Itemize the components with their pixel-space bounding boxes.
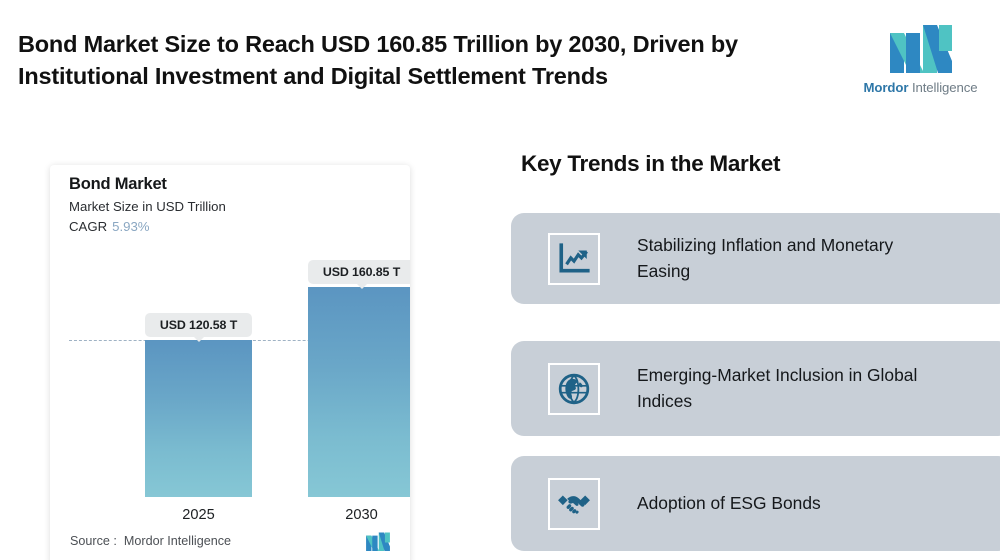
chart-title: Bond Market [69, 175, 167, 194]
mordor-intelligence-logo-icon [890, 21, 952, 73]
brand-name-light: Intelligence [912, 80, 978, 95]
brand-wordmark: Mordor Intelligence [864, 80, 978, 95]
page-title: Bond Market Size to Reach USD 160.85 Tri… [18, 28, 838, 93]
trend-card-emerging-market-inclusion[interactable]: Emerging-Market Inclusion in Global Indi… [511, 341, 1000, 436]
bar-value-label-2030: USD 160.85 T [308, 260, 410, 284]
chart-subtitle: Market Size in USD Trillion [69, 199, 226, 214]
bar-2025[interactable] [145, 340, 252, 497]
x-axis-label-2025: 2025 [145, 507, 252, 523]
brand-name-bold: Mordor [864, 80, 909, 95]
source-row: Source : Mordor Intelligence [70, 531, 392, 551]
globe-icon [548, 363, 600, 415]
handshake-icon [548, 478, 600, 530]
bar-2030[interactable] [308, 287, 410, 497]
chart-card: Bond Market Market Size in USD Trillion … [50, 165, 410, 560]
bar-value-label-2025: USD 120.58 T [145, 313, 252, 337]
infographic-page: Bond Market Size to Reach USD 160.85 Tri… [0, 0, 1000, 560]
bar-chart-plot: USD 120.58 T USD 160.85 T 2025 2030 [50, 260, 410, 510]
cagr-label: CAGR [69, 219, 107, 234]
cagr-value: 5.93% [112, 219, 149, 234]
trend-label: Stabilizing Inflation and Monetary Easin… [637, 233, 937, 283]
trends-heading: Key Trends in the Market [521, 151, 780, 177]
trend-label: Emerging-Market Inclusion in Global Indi… [637, 363, 937, 413]
source-value: Mordor Intelligence [124, 534, 231, 548]
brand-logo: Mordor Intelligence [857, 0, 984, 116]
trend-card-stabilizing-inflation[interactable]: Stabilizing Inflation and Monetary Easin… [511, 213, 1000, 304]
trend-label: Adoption of ESG Bonds [637, 491, 821, 516]
source-label: Source : [70, 534, 117, 548]
x-axis-label-2030: 2030 [308, 507, 410, 523]
chart-up-icon [548, 233, 600, 285]
trend-card-adoption-esg-bonds[interactable]: Adoption of ESG Bonds [511, 456, 1000, 551]
source-text: Source : Mordor Intelligence [70, 534, 231, 548]
cagr-row: CAGR5.93% [69, 219, 150, 234]
mordor-mark-icon [364, 531, 392, 551]
